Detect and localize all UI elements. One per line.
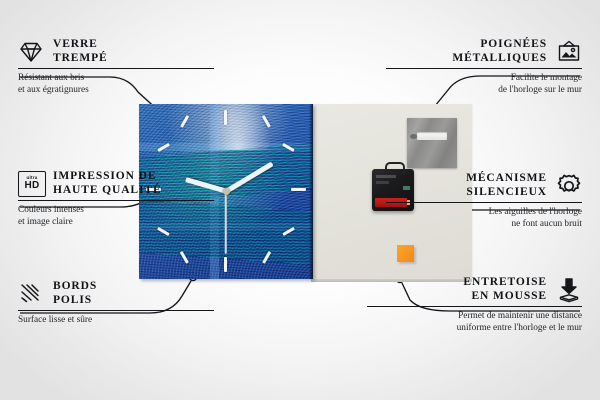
feature-subtitle: Facilite le montage de l'horloge sur le … (386, 73, 582, 96)
tick-mark (291, 188, 306, 191)
divider (18, 68, 214, 69)
gear-icon (556, 173, 582, 199)
feature-title: BORDS POLIS (53, 280, 97, 307)
feature-title: MÉCANISME SILENCIEUX (466, 172, 547, 199)
divider (18, 310, 214, 311)
feature-verre-trempe: VERRE TREMPÉ Résistant aux bris et aux é… (18, 38, 214, 96)
divider (367, 306, 582, 307)
feature-entretoise-en-mousse: ENTRETOISE EN MOUSSE Permet de maintenir… (367, 276, 582, 334)
feature-poignees-metalliques: POIGNÉES MÉTALLIQUES Facilite le montage… (386, 38, 582, 96)
diamond-icon (18, 39, 44, 65)
feature-subtitle: Résistant aux bris et aux égratignures (18, 73, 214, 96)
feature-title: IMPRESSION DE HAUTE QUALITÉ (53, 170, 162, 197)
feature-bords-polis: BORDS POLIS Surface lisse et sûre (18, 280, 214, 327)
feature-subtitle: Les aiguilles de l'horloge ne font aucun… (386, 207, 582, 230)
foam-spacer (397, 245, 414, 262)
second-hand (225, 192, 227, 254)
ultra-hd-badge-main: HD (24, 181, 39, 191)
feature-title: VERRE TREMPÉ (53, 38, 108, 65)
feature-mecanisme-silencieux: MÉCANISME SILENCIEUX Les aiguilles de l'… (386, 172, 582, 230)
feature-subtitle: Permet de maintenir une distance uniform… (367, 311, 582, 334)
feature-title: POIGNÉES MÉTALLIQUES (452, 38, 547, 65)
clock-hub (223, 188, 230, 195)
wall-hanger-frame-icon (556, 39, 582, 65)
clock-right-edge (309, 104, 313, 279)
divider (18, 200, 214, 201)
ultra-hd-badge-icon: ultra HD (18, 171, 44, 197)
light-glow (205, 104, 271, 150)
feature-subtitle: Couleurs intenses et image claire (18, 205, 214, 228)
feature-impression-haute-qualite: ultra HD IMPRESSION DE HAUTE QUALITÉ Cou… (18, 170, 214, 228)
infographic-canvas: VERRE TREMPÉ Résistant aux bris et aux é… (0, 0, 600, 400)
tick-mark (224, 257, 227, 272)
feature-subtitle: Surface lisse et sûre (18, 315, 214, 326)
divider (386, 68, 582, 69)
metal-hanger-plate (407, 118, 457, 168)
hanger-keyhole-slot (417, 132, 447, 140)
tick-mark (224, 110, 227, 125)
divider (386, 202, 582, 203)
feature-title: ENTRETOISE EN MOUSSE (463, 276, 547, 303)
down-arrow-layers-icon (556, 277, 582, 303)
polished-edges-icon (18, 281, 44, 307)
